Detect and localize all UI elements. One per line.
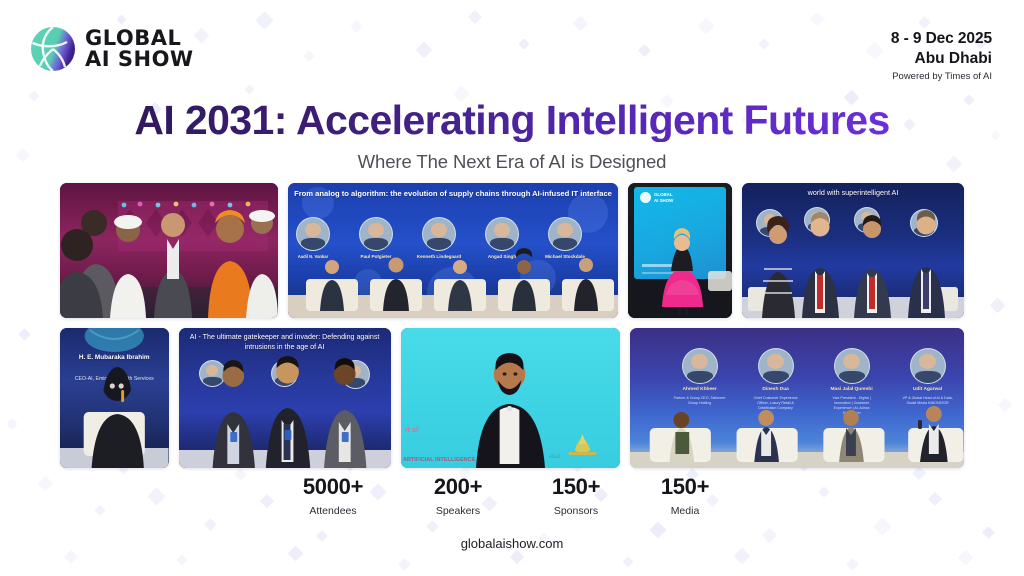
- stat-sponsors: 150+ Sponsors: [524, 474, 628, 517]
- keynote-speaker-figure: [401, 328, 620, 468]
- stat-label: Sponsors: [524, 505, 628, 517]
- cybersecurity-panel-group-photo[interactable]: AI - The ultimate gatekeeper and invader…: [179, 328, 391, 468]
- standing-speakers: [179, 328, 391, 468]
- brand-logo[interactable]: GLOBAL AI SHOW: [30, 26, 194, 72]
- stat-label: Attendees: [278, 505, 388, 517]
- stat-number: 150+: [524, 474, 628, 500]
- speaker-figure: [628, 183, 732, 318]
- keynote-speaker-pink-dress-photo[interactable]: GLOBALAI SHOW: [628, 183, 732, 318]
- website-url[interactable]: globalaishow.com: [0, 536, 1024, 551]
- seated-panelists: [630, 328, 964, 468]
- logo-text-line1: GLOBAL: [85, 28, 194, 49]
- page-title: AI 2031: Accelerating Intelligent Future…: [134, 98, 889, 142]
- event-city: Abu Dhabi: [891, 50, 992, 68]
- cyan-stage-keynote-photo[interactable]: rt of ARTIFICIAL INTELLIGENCE الذكاء: [401, 328, 620, 468]
- page-subtitle: Where The Next Era of AI is Designed: [0, 151, 1024, 173]
- logo-text-line2: AI SHOW: [85, 49, 194, 70]
- superintelligent-ai-group-photo[interactable]: world with superintelligent AI: [742, 183, 964, 318]
- page-header: GLOBAL AI SHOW 8 - 9 Dec 2025 Abu Dhabi …: [0, 0, 1024, 92]
- globe-sphere-icon: [30, 26, 76, 72]
- stat-label: Media: [638, 505, 732, 517]
- hero-title-block: AI 2031: Accelerating Intelligent Future…: [0, 98, 1024, 173]
- seated-panelists: [288, 183, 618, 318]
- mubaraka-ibrahim-session-photo[interactable]: H. E. Mubaraka Ibrahim CEO-AI, Emirates …: [60, 328, 169, 468]
- stat-attendees: 5000+ Attendees: [278, 474, 388, 517]
- photo-gallery: From analog to algorithm: the evolution …: [0, 183, 1024, 468]
- gallery-row-2: H. E. Mubaraka Ibrahim CEO-AI, Emirates …: [0, 328, 1024, 468]
- event-meta: 8 - 9 Dec 2025 Abu Dhabi Powered by Time…: [891, 30, 992, 82]
- customer-experience-panel-photo[interactable]: Ahmed Khbeer Dinesh Dua Masi Jalal Qures…: [630, 328, 964, 468]
- stat-media: 150+ Media: [638, 474, 732, 517]
- stat-speakers: 200+ Speakers: [405, 474, 511, 517]
- delegates-figures: [60, 183, 278, 318]
- event-date: 8 - 9 Dec 2025: [891, 30, 992, 48]
- powered-by-label: Powered by Times of AI: [891, 71, 992, 82]
- standing-speakers: [742, 183, 964, 318]
- stat-label: Speakers: [405, 505, 511, 517]
- stat-number: 5000+: [278, 474, 388, 500]
- stat-number: 150+: [638, 474, 732, 500]
- gallery-row-1: From analog to algorithm: the evolution …: [0, 183, 1024, 318]
- seated-speaker-figure: [60, 328, 169, 468]
- networking-delegates-photo[interactable]: [60, 183, 278, 318]
- stat-number: 200+: [405, 474, 511, 500]
- supply-chain-panel-photo[interactable]: From analog to algorithm: the evolution …: [288, 183, 618, 318]
